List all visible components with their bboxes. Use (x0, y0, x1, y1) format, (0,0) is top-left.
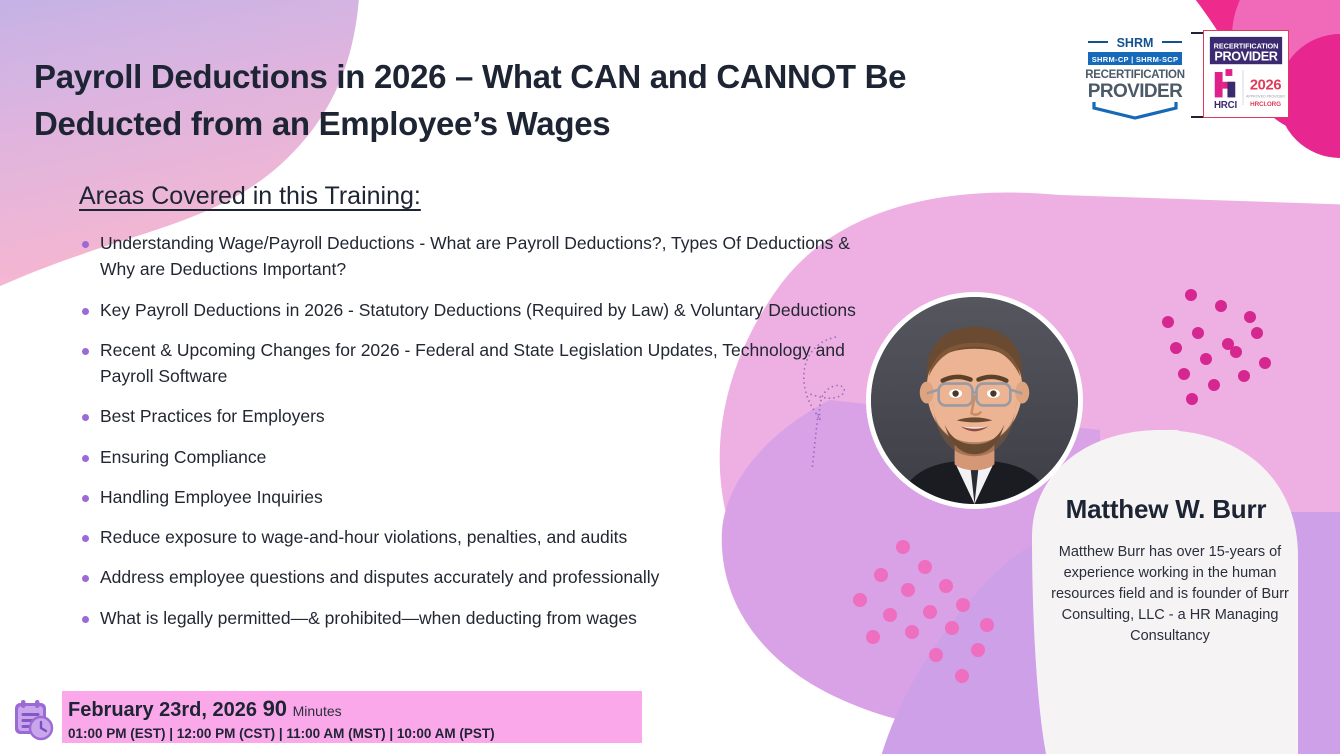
list-item: Best Practices for Employers (78, 403, 878, 429)
list-item: Ensuring Compliance (78, 444, 878, 470)
hrci-recertification-provider-logo: RECERTIFICATION PROVIDER HRCI 2026 APPRO… (1203, 30, 1289, 118)
areas-covered-list: Understanding Wage/Payroll Deductions - … (78, 230, 878, 645)
list-item: Reduce exposure to wage-and-hour violati… (78, 524, 878, 550)
schedule-duration-unit: Minutes (293, 703, 342, 719)
hrci-provider-label: PROVIDER (1214, 49, 1277, 63)
schedule-date-line: February 23rd, 2026 90 Minutes (68, 696, 342, 722)
hrci-approved-label: APPROVED PROVIDER (1246, 94, 1285, 98)
list-item: What is legally permitted—& prohibited—w… (78, 605, 878, 631)
list-item: Handling Employee Inquiries (78, 484, 878, 510)
shrm-provider-label: PROVIDER (1088, 81, 1183, 102)
page-title: Payroll Deductions in 2026 – What CAN an… (34, 54, 1044, 148)
schedule-duration-number: 90 (263, 696, 287, 721)
shrm-recert-label: RECERTIFICATION (1085, 69, 1184, 81)
list-item: Key Payroll Deductions in 2026 - Statuto… (78, 297, 868, 323)
shrm-cert-label: SHRM-CP | SHRM-SCP (1092, 55, 1179, 64)
hrci-year-label: 2026 (1250, 78, 1282, 94)
list-item: Recent & Upcoming Changes for 2026 - Fed… (78, 337, 868, 390)
hrci-org-label: HRCI (1214, 100, 1238, 111)
slide-canvas: Payroll Deductions in 2026 – What CAN an… (0, 0, 1340, 754)
speaker-avatar (866, 292, 1083, 509)
list-item: Address employee questions and disputes … (78, 564, 878, 590)
schedule-date: February 23rd, 2026 (68, 699, 257, 721)
shrm-recertification-provider-logo: SHRM SHRM-CP | SHRM-SCP RECERTIFICATION … (1080, 28, 1190, 120)
shrm-org-label: SHRM (1117, 36, 1154, 50)
schedule-timezones: 01:00 PM (EST) | 12:00 PM (CST) | 11:00 … (68, 726, 495, 741)
list-item: Understanding Wage/Payroll Deductions - … (78, 230, 868, 283)
calendar-clock-icon (12, 697, 54, 741)
speaker-name: Matthew W. Burr (1016, 494, 1316, 525)
speaker-bio: Matthew Burr has over 15-years of experi… (1041, 542, 1299, 647)
areas-covered-heading: Areas Covered in this Training: (79, 182, 421, 211)
hrci-site-label: HRCI.ORG (1250, 101, 1281, 108)
